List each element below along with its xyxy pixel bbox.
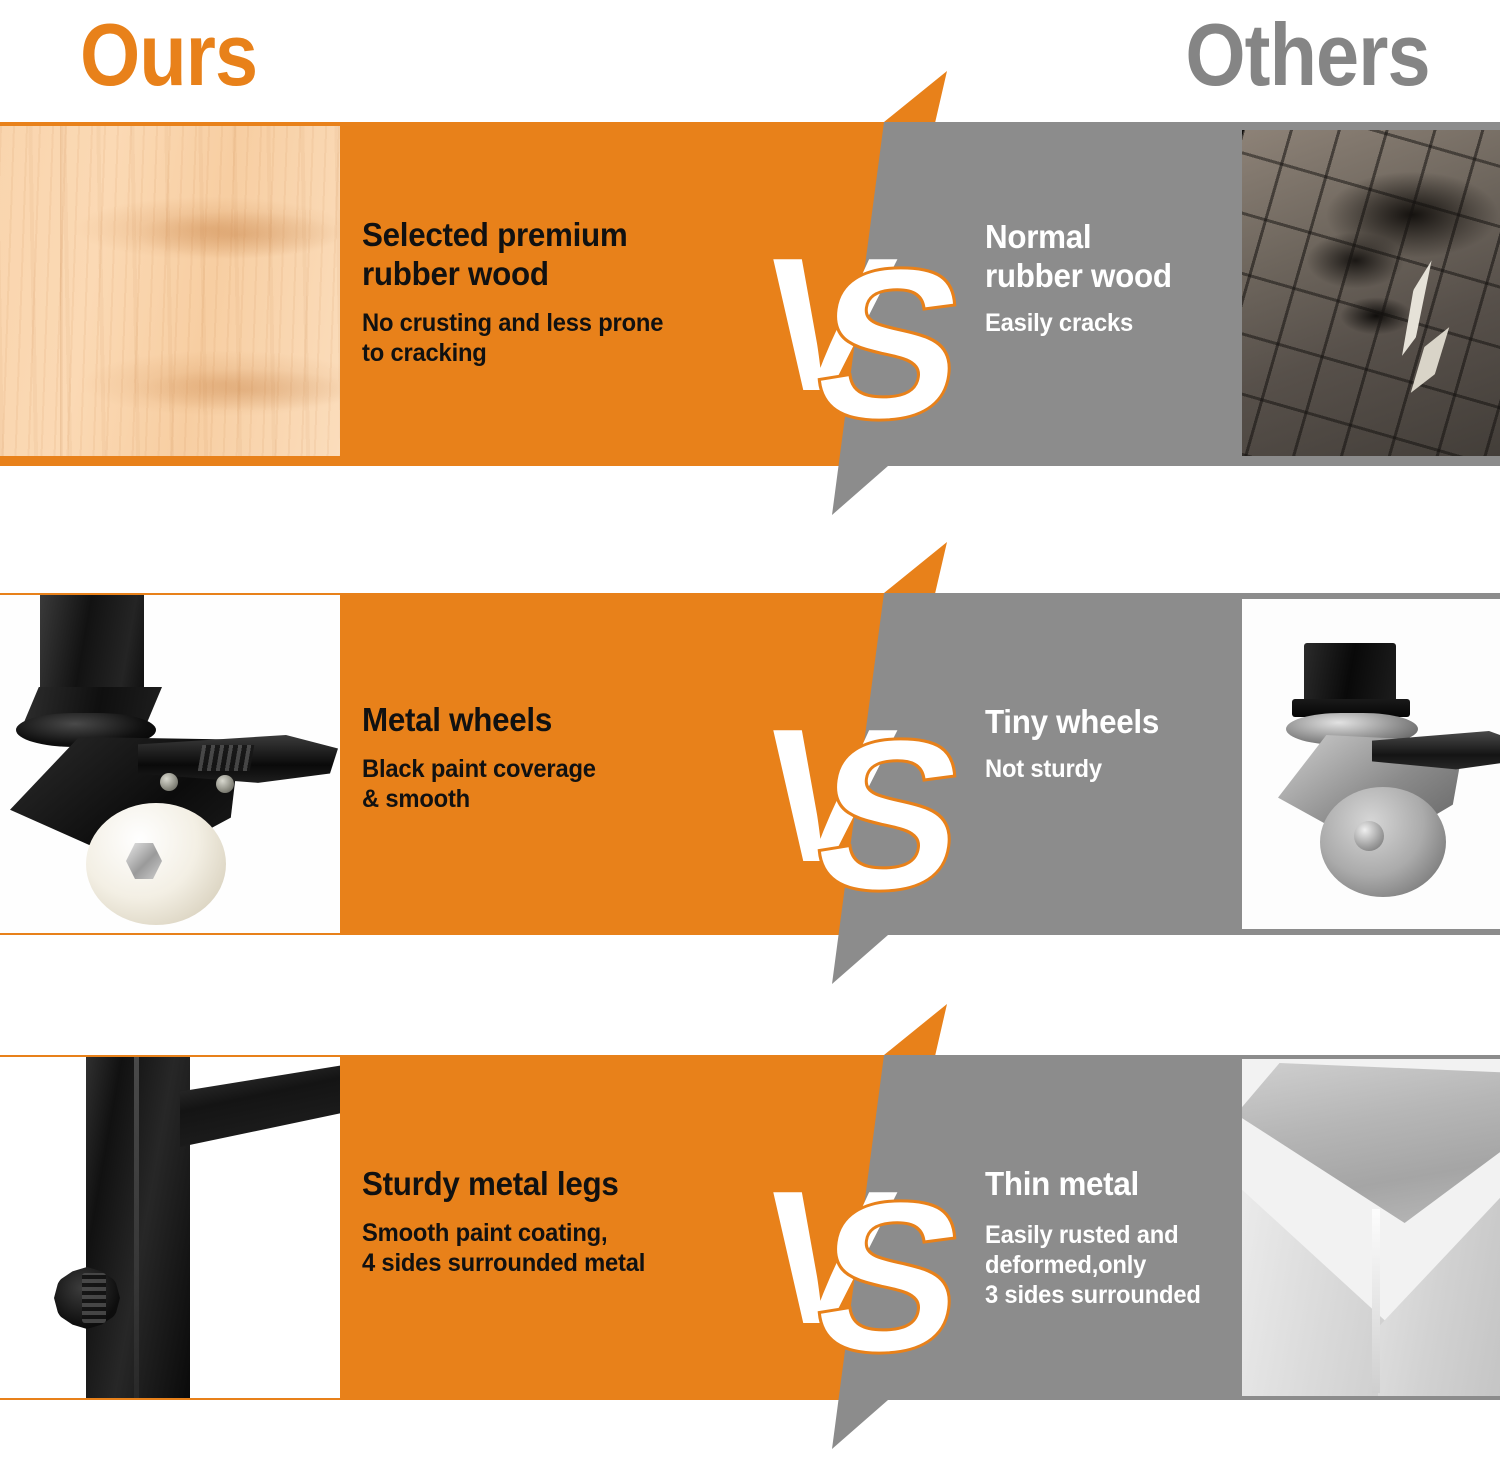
black-metal-leg-photo xyxy=(0,1057,340,1398)
row-3-left-subtext: Smooth paint coating, 4 sides surrounded… xyxy=(362,1218,761,1278)
row-1-right-text: Normal rubber wood Easily cracks xyxy=(985,218,1285,338)
caster-screw xyxy=(160,773,178,791)
comparison-row-3: V S Sturdy metal legs Smooth paint coati… xyxy=(0,1055,1500,1400)
vs-badge: V S xyxy=(748,1152,979,1397)
premium-rubber-wood-photo xyxy=(0,126,340,456)
row-2-left-text: Metal wheels Black paint coverage & smoo… xyxy=(362,701,782,814)
mini-caster-stem xyxy=(1304,643,1396,707)
caster-brake-ridges xyxy=(198,745,255,771)
row-2-right-text: Tiny wheels Not sturdy xyxy=(985,703,1285,784)
row-2-right-subtext: Not sturdy xyxy=(985,754,1270,784)
row-2-right-heading: Tiny wheels xyxy=(985,703,1270,742)
row-1-left-image xyxy=(0,126,340,456)
row-2-left-subtext: Black paint coverage & smooth xyxy=(362,754,761,814)
row-1-left-subtext: No crusting and less prone to cracking xyxy=(362,308,761,368)
black-metal-caster-photo xyxy=(0,595,340,933)
comparison-row-1: V S Selected premium rubber wood No crus… xyxy=(0,122,1500,466)
row-3-right-heading: Thin metal xyxy=(985,1165,1270,1204)
vs-badge: V S xyxy=(748,219,979,464)
metal-leg-knob-ridges xyxy=(82,1273,106,1323)
row-3-left-text: Sturdy metal legs Smooth paint coating, … xyxy=(362,1165,782,1278)
row-2-left-image xyxy=(0,595,340,933)
row-2-left-heading: Metal wheels xyxy=(362,701,761,740)
row-1-right-subtext: Easily cracks xyxy=(985,308,1270,338)
metal-leg-highlight xyxy=(134,1057,139,1398)
row-1-left-text: Selected premium rubber wood No crusting… xyxy=(362,216,782,368)
row-3-right-text: Thin metal Easily rusted and deformed,on… xyxy=(985,1165,1285,1310)
comparison-row-2: V S Metal wheels Blac xyxy=(0,593,1500,935)
row-3-left-heading: Sturdy metal legs xyxy=(362,1165,761,1204)
metal-leg-crossbar xyxy=(180,1063,340,1147)
caster-screw xyxy=(216,775,234,793)
steel-corner-edge xyxy=(1372,1209,1380,1393)
vs-badge: V S xyxy=(748,690,979,935)
mini-caster-wheel xyxy=(1320,787,1446,897)
row-1-right-heading: Normal rubber wood xyxy=(985,218,1270,296)
row-3-right-subtext: Easily rusted and deformed,only 3 sides … xyxy=(985,1220,1270,1310)
row-1-left-heading: Selected premium rubber wood xyxy=(362,216,761,294)
row-3-left-image xyxy=(0,1057,340,1398)
wood-seam xyxy=(60,126,63,456)
mini-caster-axle xyxy=(1354,821,1384,851)
